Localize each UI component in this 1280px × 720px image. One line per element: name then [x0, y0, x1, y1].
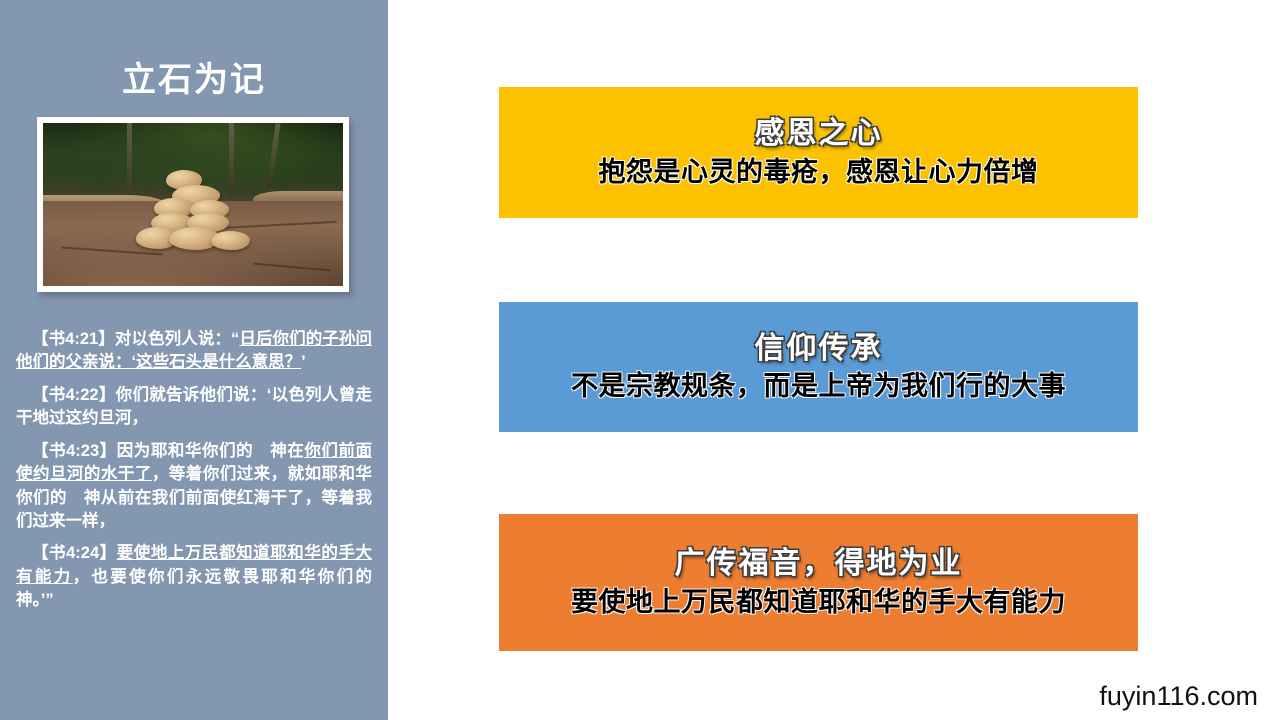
photo-tree-trunk: [127, 123, 132, 201]
scripture-text: 【书4:21】对以色列人说：“日后你们的子孙问他们的父亲说：‘这些石头是什么意思…: [16, 328, 372, 622]
panel-gratitude: 感恩之心 抱怨是心灵的毒疮，感恩让心力倍增: [499, 87, 1138, 218]
panel-gratitude-title: 感恩之心: [755, 117, 883, 152]
verse-reference: 【书4:21】: [32, 330, 115, 348]
panel-faith: 信仰传承 不是宗教规条，而是上帝为我们行的大事: [499, 302, 1138, 432]
page-title: 立石为记: [0, 62, 388, 99]
photo-tree-trunk: [229, 123, 234, 195]
verse-tail: ’: [301, 353, 306, 371]
scripture-verse: 【书4:21】对以色列人说：“日后你们的子孙问他们的父亲说：‘这些石头是什么意思…: [16, 328, 372, 375]
verse-tail: ，也要使你们永远敬畏耶和华你们的 神。’”: [16, 568, 389, 609]
watermark: fuyin116.com: [1099, 681, 1258, 712]
verse-lead: 因为耶和华你们的 神在: [117, 442, 305, 460]
photo-cairn-rock: [211, 231, 250, 251]
scripture-verse: 【书4:23】因为耶和华你们的 神在你们前面使约旦河的水干了，等着你们过来，就如…: [16, 440, 372, 534]
panel-gratitude-subtitle: 抱怨是心灵的毒疮，感恩让心力倍增: [599, 156, 1039, 188]
photo-frame: [37, 117, 349, 292]
panel-gospel-subtitle: 要使地上万民都知道耶和华的手大有能力: [571, 586, 1066, 618]
panel-gospel: 广传福音，得地为业 要使地上万民都知道耶和华的手大有能力: [499, 514, 1138, 651]
scripture-verse: 【书4:22】你们就告诉他们说：‘以色列人曾走干地过这约旦河，: [16, 384, 372, 431]
panel-gospel-title: 广传福音，得地为业: [675, 547, 963, 582]
verse-reference: 【书4:22】: [32, 386, 116, 404]
verse-lead: 对以色列人说：“: [115, 330, 239, 348]
panel-faith-title: 信仰传承: [755, 332, 883, 367]
verse-reference: 【书4:23】: [32, 442, 117, 460]
stone-cairn-photo: [43, 123, 343, 286]
panel-faith-subtitle: 不是宗教规条，而是上帝为我们行的大事: [571, 370, 1066, 402]
sidebar-panel: 立石为记 【书4:21】对以色列人说：“日后你们的子孙问他们的父亲说：‘这些石头…: [0, 0, 388, 720]
verse-reference: 【书4:24】: [32, 544, 117, 562]
scripture-verse: 【书4:24】要使地上万民都知道耶和华的手大有能力，也要使你们永远敬畏耶和华你们…: [16, 542, 372, 612]
